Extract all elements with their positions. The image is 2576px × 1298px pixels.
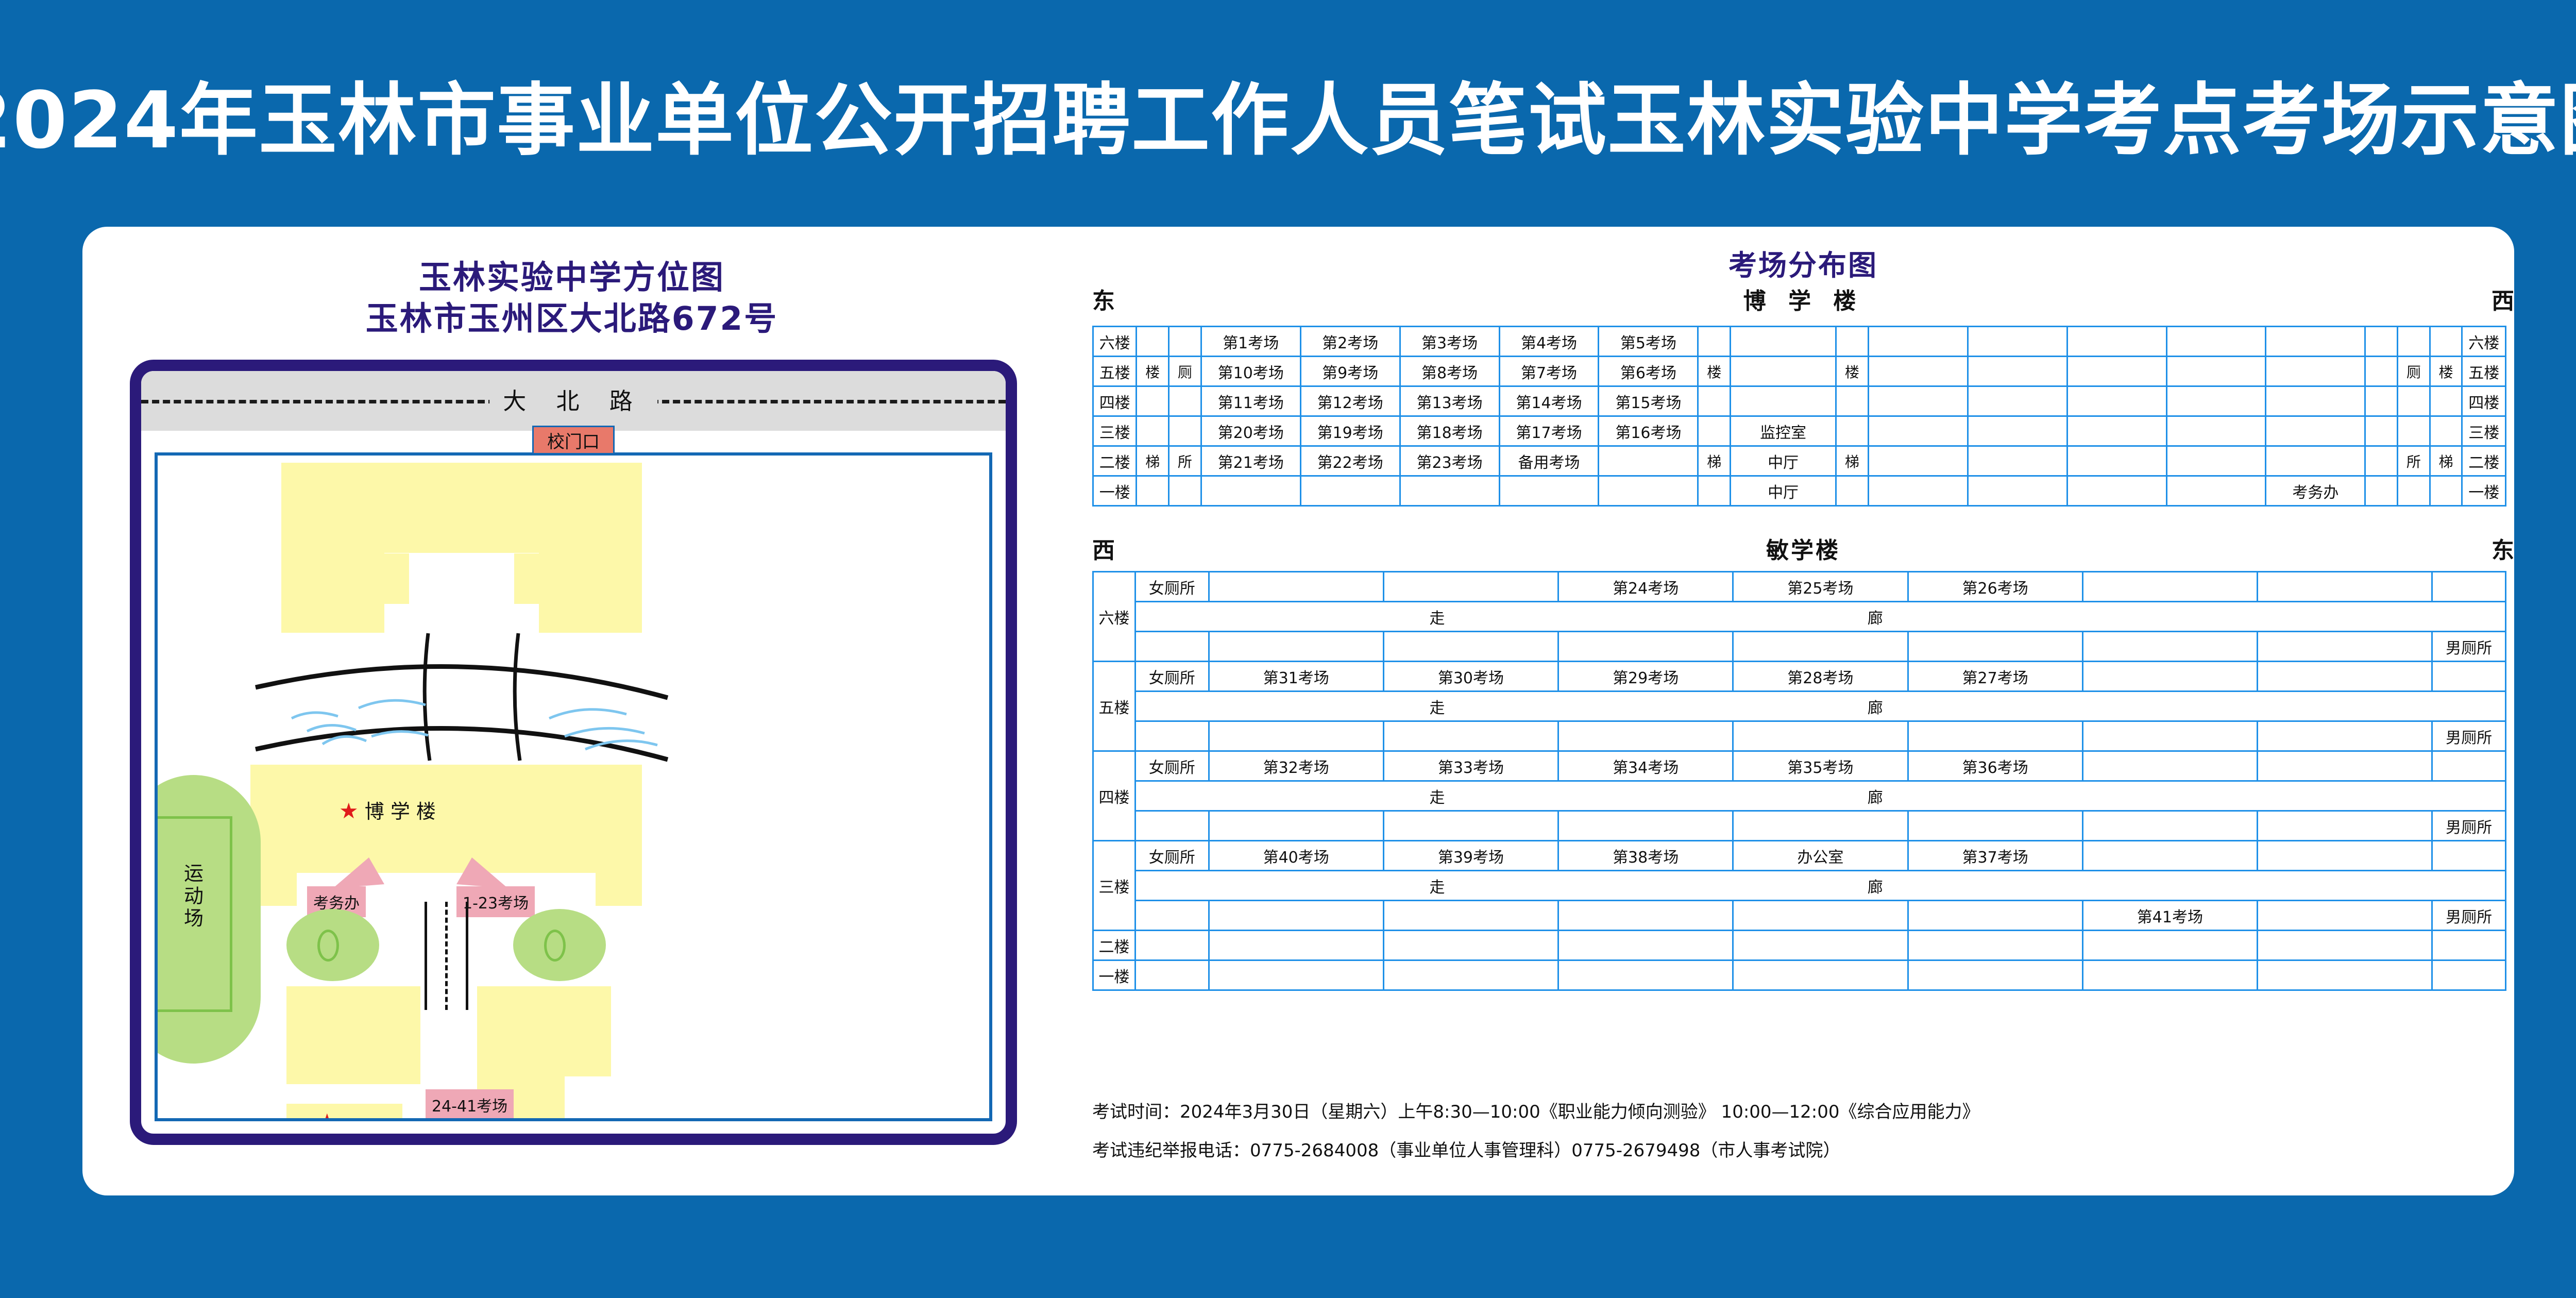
empty-cell [1599,476,1698,506]
building-boxue-label: ★ 博 学 楼 [339,796,436,824]
school-gate-marker: 校门口 [532,426,615,454]
exam-room-cell: 第14考场 [1499,386,1599,416]
exam-room-cell: 第35考场 [1733,751,1908,781]
empty-cell [1137,327,1169,357]
exam-room-cell: 第22考场 [1300,446,1400,476]
exam-room-cell: 第1考场 [1201,327,1300,357]
empty-cell [2365,446,2398,476]
facility-cell: 女厕所 [1135,841,1209,871]
empty-cell [1908,721,2082,751]
table-row: 走廊 [1093,692,2506,721]
empty-cell [1698,416,1731,446]
empty-cell [1383,901,1558,931]
facility-cell: 男厕所 [2432,632,2506,662]
facility-cell: 梯 [1137,446,1169,476]
empty-cell [1698,327,1731,357]
empty-cell [1731,327,1836,357]
garden-right-inner [544,930,566,962]
empty-cell [1868,476,1968,506]
empty-cell [2067,476,2166,506]
exam-room-cell: 第29考场 [1558,662,1733,692]
empty-cell [1733,901,1908,931]
empty-cell [2365,357,2398,386]
empty-cell [1383,960,1558,990]
table-row: 一楼 [1093,960,2506,990]
empty-cell [1400,476,1499,506]
empty-cell [1135,721,1209,751]
table-row: 六楼女厕所第24考场第25考场第26考场 [1093,572,2506,602]
empty-cell [1698,386,1731,416]
exam-room-cell: 第28考场 [1733,662,1908,692]
empty-cell [1733,960,1908,990]
exam-room-cell: 第13考场 [1400,386,1499,416]
floor-label-cell: 一楼 [1093,960,1136,990]
empty-cell [2166,327,2266,357]
building-south-west [286,986,420,1084]
floor-label-cell: 三楼 [1093,841,1136,931]
building-south-east-upper [477,986,611,1076]
empty-cell [1908,632,2082,662]
empty-cell [2082,721,2257,751]
star-icon-minxue: ★ [317,1109,337,1121]
facility-cell: 男厕所 [2432,811,2506,841]
empty-cell [2067,357,2166,386]
facility-cell: 女厕所 [1135,751,1209,781]
empty-cell [2430,327,2462,357]
floor-label-cell: 五楼 [1093,357,1137,386]
empty-cell [2398,476,2430,506]
empty-cell [2082,931,2257,960]
exam-room-cell: 第5考场 [1599,327,1698,357]
table-row: 四楼第11考场第12考场第13考场第14考场第15考场四楼 [1093,386,2506,416]
empty-cell [1868,416,1968,446]
table-row: 男厕所 [1093,811,2506,841]
facility-cell: 办公室 [1733,841,1908,871]
boxue-direction-right: 西 [2492,282,2514,315]
empty-cell [1201,476,1300,506]
empty-cell [2432,960,2506,990]
floor-label-cell: 三楼 [1093,416,1137,446]
empty-cell [1209,811,1383,841]
empty-cell [1733,811,1908,841]
empty-cell [2082,662,2257,692]
empty-cell [2257,901,2432,931]
empty-cell [2166,386,2266,416]
table-row: 五楼楼厕第10考场第9考场第8考场第7考场第6考场楼楼厕楼五楼 [1093,357,2506,386]
exam-room-cell: 第7考场 [1499,357,1599,386]
empty-cell [2266,386,2365,416]
empty-cell [2266,416,2365,446]
empty-cell [1137,476,1169,506]
building-north-right-wing [514,553,555,604]
floor-label-cell: 一楼 [2462,476,2506,506]
empty-cell [2365,476,2398,506]
empty-cell [1908,931,2082,960]
empty-cell [2432,662,2506,692]
facility-cell: 梯 [2430,446,2462,476]
exam-room-cell: 第16考场 [1599,416,1698,446]
floor-label-cell: 四楼 [1093,751,1136,841]
empty-cell [1209,721,1383,751]
empty-cell [2067,416,2166,446]
empty-cell [1135,632,1209,662]
map-title-line2: 玉林市玉州区大北路672号 [82,293,1061,340]
exam-room-cell: 第6考场 [1599,357,1698,386]
table-row: 走廊 [1093,871,2506,901]
exam-room-cell: 第11考场 [1201,386,1300,416]
corridor-cell: 走廊 [1135,781,2505,811]
empty-cell [2257,960,2432,990]
empty-cell [2067,446,2166,476]
empty-cell [1731,386,1836,416]
empty-cell [2257,721,2432,751]
exam-room-cell: 第41考场 [2082,901,2257,931]
empty-cell [1558,721,1733,751]
empty-cell [2082,960,2257,990]
empty-cell [2257,572,2432,602]
facility-cell: 女厕所 [1135,572,1209,602]
empty-cell [1383,931,1558,960]
empty-cell [1908,960,2082,990]
facility-cell: 考务办 [2266,476,2365,506]
page-title: 2024年玉林市事业单位公开招聘工作人员笔试玉林实验中学考点考场示意图 [0,57,2576,170]
empty-cell [1135,960,1209,990]
empty-cell [2266,357,2365,386]
exam-room-cell: 第38考场 [1558,841,1733,871]
empty-cell [2166,446,2266,476]
table-row: 男厕所 [1093,721,2506,751]
empty-cell [2257,662,2432,692]
floor-label-cell: 四楼 [1093,386,1137,416]
empty-cell [2432,931,2506,960]
empty-cell [1908,901,2082,931]
table-row: 走廊 [1093,602,2506,632]
floor-label-cell: 二楼 [2462,446,2506,476]
exam-room-cell: 第40考场 [1209,841,1383,871]
empty-cell [1558,632,1733,662]
empty-cell [1300,476,1400,506]
exam-room-cell: 第39考场 [1383,841,1558,871]
exam-room-cell: 第9考场 [1300,357,1400,386]
exam-room-cell: 第18考场 [1400,416,1499,446]
corridor-cell: 走廊 [1135,602,2505,632]
empty-cell [2082,811,2257,841]
central-path-right-edge [466,902,468,1010]
floor-label-cell: 二楼 [1093,931,1136,960]
empty-cell [2067,386,2166,416]
empty-cell [1383,632,1558,662]
empty-cell [2257,811,2432,841]
campus-area: ★ 博 学 楼 考务办 1-23考场 运动场 [155,452,992,1121]
floor-label-cell: 六楼 [1093,572,1136,662]
empty-cell [1209,931,1383,960]
empty-cell [1137,416,1169,446]
empty-cell [2398,416,2430,446]
exam-room-cell: 第23考场 [1400,446,1499,476]
exam-room-cell: 第34考场 [1558,751,1733,781]
facility-cell: 楼 [1836,357,1869,386]
facility-cell: 梯 [1698,446,1731,476]
empty-cell [1968,357,2067,386]
empty-cell [2398,386,2430,416]
facility-cell: 楼 [1698,357,1731,386]
empty-cell [2166,416,2266,446]
exam-room-cell: 第31考场 [1209,662,1383,692]
exam-room-cell: 第4考场 [1499,327,1599,357]
facility-cell: 梯 [1836,446,1869,476]
sports-field-label: 运动场 [182,863,205,930]
campus-map-panel: 玉林实验中学方位图 玉林市玉州区大北路672号 大 北 路 校门口 [82,227,1061,1195]
empty-cell [2432,841,2506,871]
minxue-direction-right: 东 [2492,532,2514,565]
table-row: 二楼 [1093,931,2506,960]
facility-cell: 厕 [2398,357,2430,386]
empty-cell [1968,327,2067,357]
empty-cell [2365,386,2398,416]
exam-room-cell: 第12考场 [1300,386,1400,416]
empty-cell [1968,416,2067,446]
empty-cell [1868,357,1968,386]
empty-cell [1209,632,1383,662]
content-card: 玉林实验中学方位图 玉林市玉州区大北路672号 大 北 路 校门口 [82,227,2514,1195]
map-title-line1: 玉林实验中学方位图 [82,251,1061,298]
empty-cell [1169,416,1201,446]
empty-cell [2257,751,2432,781]
minxue-table-body: 六楼女厕所第24考场第25考场第26考场走廊男厕所五楼女厕所第31考场第30考场… [1093,572,2506,990]
building-boxue [250,765,642,873]
callout-rooms-24-41: 24-41考场 [426,1089,514,1120]
empty-cell [1698,476,1731,506]
empty-cell [1599,446,1698,476]
empty-cell [2082,841,2257,871]
floor-label-cell: 五楼 [1093,662,1136,751]
empty-cell [2430,476,2462,506]
exam-room-cell: 第33考场 [1383,751,1558,781]
empty-cell [1733,931,1908,960]
table-row: 三楼第20考场第19考场第18考场第17考场第16考场监控室三楼 [1093,416,2506,446]
exam-room-tables-panel: 考场分布图 东 博 学 楼 西 六楼第1考场第2考场第3考场第4考场第5考场六楼… [1092,227,2514,1195]
exam-room-cell: 第19考场 [1300,416,1400,446]
empty-cell [1836,327,1869,357]
empty-cell [1836,416,1869,446]
empty-cell [1169,327,1201,357]
report-phone-note: 考试违纪举报电话：0775-2684008（事业单位人事管理科）0775-267… [1092,1136,2514,1161]
building-north-right [539,463,642,633]
corridor-cell: 走廊 [1135,692,2505,721]
table-row: 男厕所 [1093,632,2506,662]
exam-room-cell: 第37考场 [1908,841,2082,871]
map-frame: 大 北 路 校门口 [130,360,1017,1145]
garden-left-inner [317,930,339,962]
empty-cell [2266,446,2365,476]
empty-cell [2266,327,2365,357]
floor-label-cell: 四楼 [2462,386,2506,416]
empty-cell [2082,632,2257,662]
table-row: 六楼第1考场第2考场第3考场第4考场第5考场六楼 [1093,327,2506,357]
empty-cell [1968,476,2067,506]
track-curves [250,620,673,765]
table-row: 三楼女厕所第40考场第39考场第38考场办公室第37考场 [1093,841,2506,871]
empty-cell [1868,327,1968,357]
empty-cell [1836,386,1869,416]
exam-room-cell: 第24考场 [1558,572,1733,602]
table-row: 走廊 [1093,781,2506,811]
tables-title: 考场分布图 [1092,242,2514,283]
page-header: 2024年玉林市事业单位公开招聘工作人员笔试玉林实验中学考点考场示意图 [0,0,2576,227]
empty-cell [1383,572,1558,602]
exam-room-cell: 第8考场 [1400,357,1499,386]
empty-cell [1908,811,2082,841]
road-label: 大 北 路 [489,382,657,416]
empty-cell [1968,446,2067,476]
empty-cell [2398,327,2430,357]
empty-cell [1137,386,1169,416]
table-row: 一楼中厅考务办一楼 [1093,476,2506,506]
empty-cell [2430,386,2462,416]
empty-cell [2257,841,2432,871]
empty-cell [1169,386,1201,416]
empty-cell [1868,446,1968,476]
empty-cell [1135,811,1209,841]
empty-cell [1558,811,1733,841]
minxue-building-name: 敏学楼 [1092,532,2514,565]
exam-room-cell: 第27考场 [1908,662,2082,692]
central-path-center-dash [445,902,448,1010]
central-path-left-edge [425,902,427,1010]
empty-cell [1733,632,1908,662]
star-icon: ★ [339,798,359,823]
minxue-floor-table: 六楼女厕所第24考场第25考场第26考场走廊男厕所五楼女厕所第31考场第30考场… [1092,571,2506,991]
table-row: 四楼女厕所第32考场第33考场第34考场第35考场第36考场 [1093,751,2506,781]
building-boxue-right-wing [596,873,642,906]
empty-cell [1135,901,1209,931]
exam-time-note: 考试时间：2024年3月30日（星期六）上午8:30—10:00《职业能力倾向测… [1092,1098,2514,1123]
facility-cell: 中厅 [1731,446,1836,476]
table-row: 第41考场男厕所 [1093,901,2506,931]
empty-cell [1868,386,1968,416]
exam-room-cell: 第3考场 [1400,327,1499,357]
empty-cell [1968,386,2067,416]
exam-room-cell: 第17考场 [1499,416,1599,446]
empty-cell [1731,357,1836,386]
empty-cell [1383,811,1558,841]
empty-cell [1558,931,1733,960]
empty-cell [2166,476,2266,506]
empty-cell [1135,931,1209,960]
empty-cell [2257,632,2432,662]
exam-room-cell: 第15考场 [1599,386,1698,416]
boxue-building-name: 博 学 楼 [1092,282,2514,315]
floor-label-cell: 六楼 [1093,327,1137,357]
empty-cell [2365,416,2398,446]
facility-cell: 女厕所 [1135,662,1209,692]
empty-cell [1733,721,1908,751]
empty-cell [1836,476,1869,506]
floor-label-cell: 三楼 [2462,416,2506,446]
empty-cell [1499,476,1599,506]
building-minxue-star: ★ [317,1109,337,1121]
facility-cell: 厕 [1169,357,1201,386]
exam-room-cell: 第32考场 [1209,751,1383,781]
exam-room-cell: 第36考场 [1908,751,2082,781]
road-strip: 大 北 路 [141,371,1006,431]
empty-cell [1209,901,1383,931]
facility-cell: 楼 [2430,357,2462,386]
building-north-left-wing [368,553,409,604]
exam-room-cell: 第25考场 [1733,572,1908,602]
empty-cell [2082,751,2257,781]
exam-room-cell: 备用考场 [1499,446,1599,476]
boxue-table-body: 六楼第1考场第2考场第3考场第4考场第5考场六楼五楼楼厕第10考场第9考场第8考… [1093,327,2506,506]
empty-cell [1209,960,1383,990]
empty-cell [2067,327,2166,357]
empty-cell [2166,357,2266,386]
floor-label-cell: 一楼 [1093,476,1137,506]
empty-cell [2432,572,2506,602]
empty-cell [2365,327,2398,357]
floor-label-cell: 六楼 [2462,327,2506,357]
facility-cell: 男厕所 [2432,721,2506,751]
table-row: 五楼女厕所第31考场第30考场第29考场第28考场第27考场 [1093,662,2506,692]
facility-cell: 所 [2398,446,2430,476]
empty-cell [1558,960,1733,990]
empty-cell [2432,751,2506,781]
floor-label-cell: 二楼 [1093,446,1137,476]
exam-room-cell: 第20考场 [1201,416,1300,446]
facility-cell: 楼 [1137,357,1169,386]
table-row: 二楼梯所第21考场第22考场第23考场备用考场梯中厅梯所梯二楼 [1093,446,2506,476]
empty-cell [2430,416,2462,446]
empty-cell [1209,572,1383,602]
empty-cell [2082,572,2257,602]
facility-cell: 中厅 [1731,476,1836,506]
exam-room-cell: 第2考场 [1300,327,1400,357]
boxue-floor-table: 六楼第1考场第2考场第3考场第4考场第5考场六楼五楼楼厕第10考场第9考场第8考… [1092,326,2506,507]
exam-room-cell: 第21考场 [1201,446,1300,476]
building-boxue-name: 博 学 楼 [365,800,436,823]
empty-cell [1383,721,1558,751]
exam-room-cell: 第30考场 [1383,662,1558,692]
corridor-cell: 走廊 [1135,871,2505,901]
footer-notes: 考试时间：2024年3月30日（星期六）上午8:30—10:00《职业能力倾向测… [1092,1098,2514,1175]
empty-cell [2257,931,2432,960]
empty-cell [1169,476,1201,506]
facility-cell: 男厕所 [2432,901,2506,931]
exam-room-cell: 第10考场 [1201,357,1300,386]
facility-cell: 所 [1169,446,1201,476]
facility-cell: 监控室 [1731,416,1836,446]
floor-label-cell: 五楼 [2462,357,2506,386]
exam-room-cell: 第26考场 [1908,572,2082,602]
empty-cell [1558,901,1733,931]
